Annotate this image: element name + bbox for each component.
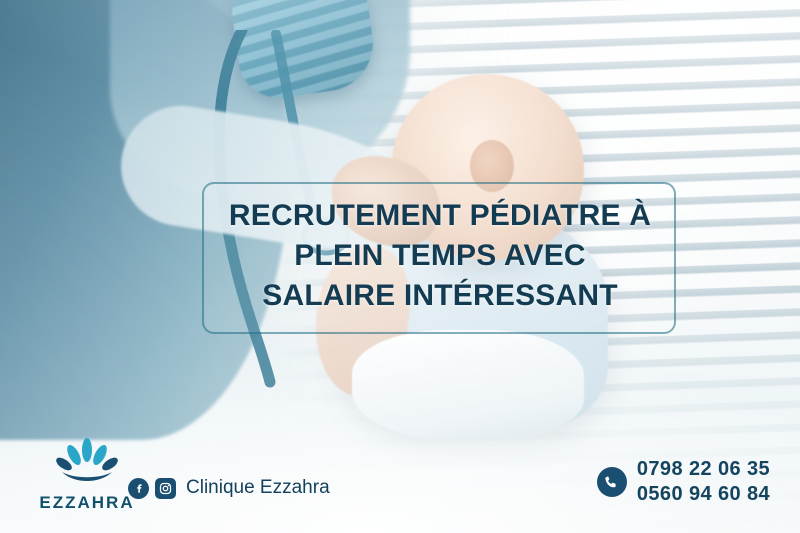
baby-diaper [352,330,584,440]
instagram-icon[interactable] [155,478,176,499]
phone-icon [597,467,627,497]
social-handle: Clinique Ezzahra [186,477,330,499]
phone-number-1: 0798 22 06 35 [637,457,770,482]
facebook-icon[interactable] [128,478,149,499]
headline-line-2: PLEIN TEMPS AVEC [175,236,705,276]
recruitment-poster: RECRUTEMENT PÉDIATRE À PLEIN TEMPS AVEC … [0,0,800,533]
social-links[interactable]: Clinique Ezzahra [128,477,330,499]
lotus-flower-icon [56,438,118,484]
contact-block: 0798 22 06 35 0560 94 60 84 [597,457,770,507]
phone-numbers: 0798 22 06 35 0560 94 60 84 [637,457,770,507]
headline-line-3: SALAIRE INTÉRESSANT [175,276,705,316]
brand-logo: EZZAHRA [32,438,142,513]
headline: RECRUTEMENT PÉDIATRE À PLEIN TEMPS AVEC … [175,196,705,316]
headline-line-1: RECRUTEMENT PÉDIATRE À [175,196,705,236]
brand-name: EZZAHRA [32,493,142,513]
phone-number-2: 0560 94 60 84 [637,482,770,507]
